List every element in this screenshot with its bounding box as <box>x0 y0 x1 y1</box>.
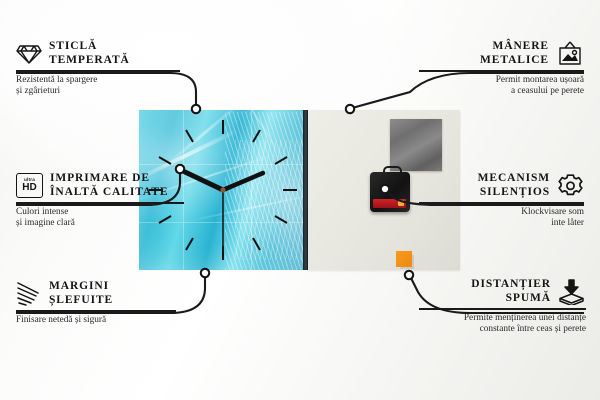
feature-title: ÎNALTĂ CALITATE <box>50 186 168 200</box>
diamond-icon <box>16 43 42 65</box>
divider <box>16 202 184 204</box>
feature-title: SPUMĂ <box>471 292 551 306</box>
gear-icon <box>557 173 584 199</box>
feature-title: MECANISM <box>478 172 550 186</box>
feature-title: IMPRIMARE DE <box>50 172 168 186</box>
feature-subtitle: Klockvisare som <box>404 207 584 219</box>
divider <box>16 70 180 72</box>
ultra-hd-badge-icon: ultra HD <box>16 173 43 198</box>
feature-glass: STICLĂ TEMPERATĂ Rezistentă la spargere … <box>16 40 196 98</box>
polished-edge-icon <box>16 282 42 306</box>
feature-edges: MARGINI ȘLEFUITE Finisare netedă și sigu… <box>16 280 192 326</box>
divider <box>419 202 584 204</box>
feature-print: ultra HD IMPRIMARE DE ÎNALTĂ CALITATE Cu… <box>16 172 201 230</box>
feature-mechanism: MECANISM SILENȚIOS Klockvisare som inte … <box>404 172 584 230</box>
feature-subtitle: constante între ceas și perete <box>404 324 586 336</box>
feature-title: ȘLEFUITE <box>49 294 113 308</box>
feature-title: SILENȚIOS <box>478 186 550 200</box>
divider <box>419 70 584 72</box>
feature-title: TEMPERATĂ <box>49 54 130 68</box>
connector-dot <box>381 185 389 193</box>
feature-subtitle: și zgârieturi <box>16 86 196 98</box>
feature-subtitle: Permite menținerea unei distanțe <box>404 313 586 325</box>
feature-title: METALICE <box>480 54 549 68</box>
feature-subtitle: inte låter <box>404 218 584 230</box>
feature-title: MÂNERE <box>480 40 549 54</box>
hd-badge-main-text: HD <box>22 183 36 193</box>
foam-spacer-arrow-icon <box>558 279 586 305</box>
picture-frame-hanger-icon <box>556 41 584 67</box>
feature-title: MARGINI <box>49 280 113 294</box>
feature-title: DISTANȚIER <box>471 278 551 292</box>
connector-dot <box>346 105 354 113</box>
feature-title: STICLĂ <box>49 40 130 54</box>
infographic-canvas: STICLĂ TEMPERATĂ Rezistentă la spargere … <box>0 0 600 400</box>
feature-subtitle: Culori intense <box>16 207 201 219</box>
feature-spacer: DISTANȚIER SPUMĂ Permite menținerea unei… <box>404 278 586 336</box>
feature-subtitle: Finisare netedă și sigură <box>16 315 192 327</box>
feature-handles: MÂNERE METALICE Permit montarea ușoară a… <box>404 40 584 98</box>
divider <box>16 310 176 312</box>
connector-dot <box>192 105 200 113</box>
feature-subtitle: Rezistentă la spargere <box>16 75 196 87</box>
feature-subtitle: a ceasului pe perete <box>404 86 584 98</box>
feature-subtitle: Permit montarea ușoară <box>404 75 584 87</box>
divider <box>419 308 586 310</box>
feature-subtitle: și imagine clară <box>16 218 201 230</box>
connector-dot <box>201 269 209 277</box>
